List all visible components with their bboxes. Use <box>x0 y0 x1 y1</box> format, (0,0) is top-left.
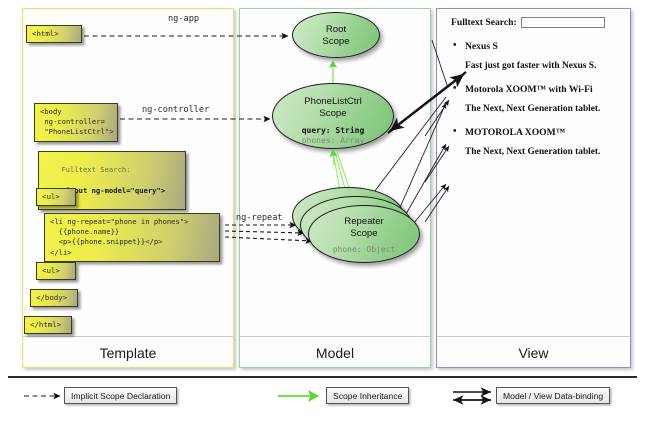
root-scope-ellipse: Root Scope <box>292 12 380 58</box>
model-caption-divider <box>240 336 430 337</box>
body-ng-controller-box: <body ng-controller= "PhoneListCtrl"> <box>34 103 118 142</box>
phonelistctrl-scope-title-line2: Scope <box>273 108 393 120</box>
fulltext-search-markup-code: <input ng-model="query"> <box>61 186 165 195</box>
panel-model-caption: Model <box>240 345 430 361</box>
phone-name: MOTOROLA XOOM™ <box>445 127 624 138</box>
li-ng-repeat-box: <li ng-repeat="phone in phones"> {{phone… <box>44 213 220 262</box>
body-close-tag-box: </body> <box>30 289 78 307</box>
legend-item-implicit-scope-declaration: Implicit Scope Declaration <box>64 387 177 404</box>
fulltext-search-input[interactable] <box>521 17 605 28</box>
html-open-tag-box: <html> <box>26 25 82 43</box>
phone-snippet: The Next, Next Generation tablet. <box>445 104 624 114</box>
phone-list: Nexus S Fast just got faster with Nexus … <box>445 41 624 157</box>
legend-glyph-databinding-arrow <box>453 392 491 400</box>
view-caption-divider <box>437 336 630 337</box>
repeater-scope-title-line2: Scope <box>309 228 419 240</box>
list-item[interactable]: Motorola XOOM™ with Wi-Fi The Next, Next… <box>445 84 624 114</box>
fulltext-search-markup-label: Fulltext Search: <box>61 165 130 174</box>
ul-close-tag-box: <ul> <box>36 262 76 280</box>
root-scope-title-line2: Scope <box>293 36 379 48</box>
repeater-scope-ellipse: Repeater Scope phone: Object <box>308 205 420 263</box>
html-close-tag-box: </html> <box>24 316 72 334</box>
legend-item-model-view-data-binding: Model / View Data-binding <box>496 387 610 404</box>
phone-name: Nexus S <box>445 41 624 52</box>
panel-template-caption: Template <box>23 345 233 361</box>
root-scope-title-line1: Root <box>293 13 379 36</box>
list-item[interactable]: MOTOROLA XOOM™ The Next, Next Generation… <box>445 127 624 157</box>
ul-open-tag-box: <ul> <box>36 188 76 206</box>
legend-divider <box>8 376 637 378</box>
repeater-scope-prop-phone: phone: Object <box>309 245 419 255</box>
phone-name: Motorola XOOM™ with Wi-Fi <box>445 84 624 95</box>
view-search-label: Fulltext Search: <box>451 17 517 28</box>
panel-view: View Fulltext Search: Nexus S Fast just … <box>436 8 631 368</box>
list-item[interactable]: Nexus S Fast just got faster with Nexus … <box>445 41 624 71</box>
edge-label-ng-controller: ng-controller <box>142 105 209 115</box>
phonelistctrl-scope-ellipse: PhoneListCtrl Scope query: String phones… <box>272 83 394 149</box>
edge-label-ng-repeat: ng-repeat <box>236 213 283 223</box>
diagram-canvas: Template <html> <body ng-controller= "Ph… <box>0 0 645 425</box>
phone-snippet: Fast just got faster with Nexus S. <box>445 61 624 71</box>
phonelistctrl-scope-prop-query: query: String <box>273 126 393 136</box>
template-caption-divider <box>23 336 233 337</box>
edge-label-ng-app: ng-app <box>168 14 199 24</box>
phonelistctrl-scope-prop-phones: phones: Array <box>273 136 393 146</box>
phonelistctrl-scope-title-line1: PhoneListCtrl <box>273 84 393 108</box>
view-search-row: Fulltext Search: <box>451 17 624 28</box>
legend-item-scope-inheritance: Scope Inheritance <box>326 387 409 404</box>
phone-snippet: The Next, Next Generation tablet. <box>445 147 624 157</box>
panel-view-caption: View <box>437 345 630 361</box>
repeater-scope-title-line1: Repeater <box>309 206 419 228</box>
view-content: Fulltext Search: Nexus S Fast just got f… <box>445 17 624 157</box>
